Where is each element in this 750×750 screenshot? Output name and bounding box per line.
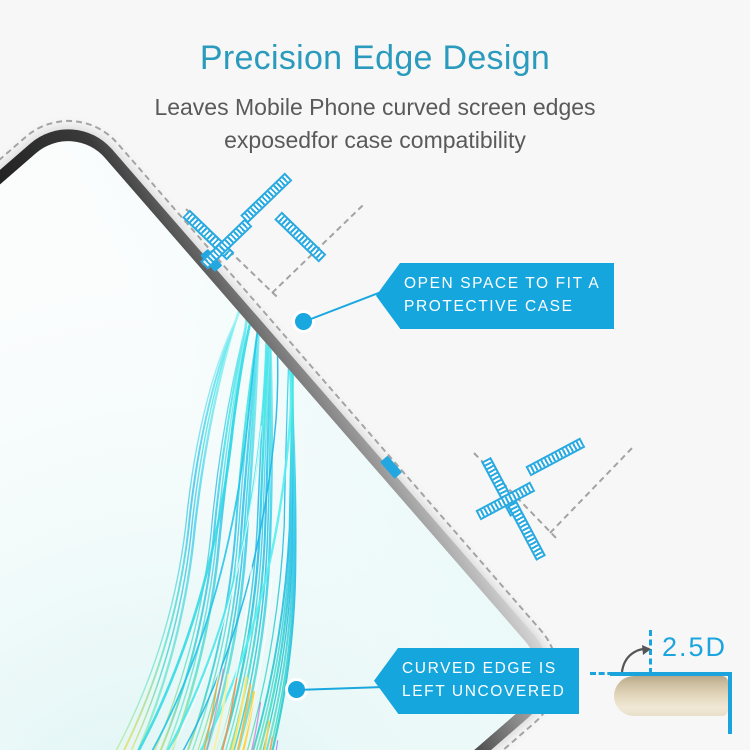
product-feature-image: Precision Edge Design Leaves Mobile Phon… [0,0,750,750]
edge-label: 2.5D [662,632,727,663]
subtitle-line-1: Leaves Mobile Phone curved screen edges [0,91,750,124]
callout-line-2: LEFT UNCOVERED [402,680,565,703]
callout-notch [374,648,398,714]
curved-arrow-icon [618,642,658,676]
ruler-mark-icon [507,501,546,561]
callout-text: OPEN SPACE TO FIT A PROTECTIVE CASE [400,263,614,329]
ruler-mark-icon [525,438,585,477]
glass-edge-profile [614,676,728,716]
callout-open-space: OPEN SPACE TO FIT A PROTECTIVE CASE [376,263,614,329]
callout-line-1: OPEN SPACE TO FIT A [404,272,600,295]
edge-top-measure-line [610,672,732,676]
callout-notch [376,263,400,329]
ruler-mark-icon [274,212,326,263]
guide-dashed-line [549,447,632,533]
callout-text: CURVED EDGE IS LEFT UNCOVERED [398,648,579,714]
callout-line-2: PROTECTIVE CASE [404,295,600,318]
page-title: Precision Edge Design [0,40,750,77]
callout-line-1: CURVED EDGE IS [402,657,565,680]
edge-right-measure-line [728,672,732,734]
edge-profile-diagram: 2.5D [596,612,750,744]
callout-curved-edge: CURVED EDGE IS LEFT UNCOVERED [374,648,579,714]
header: Precision Edge Design Leaves Mobile Phon… [0,0,750,157]
